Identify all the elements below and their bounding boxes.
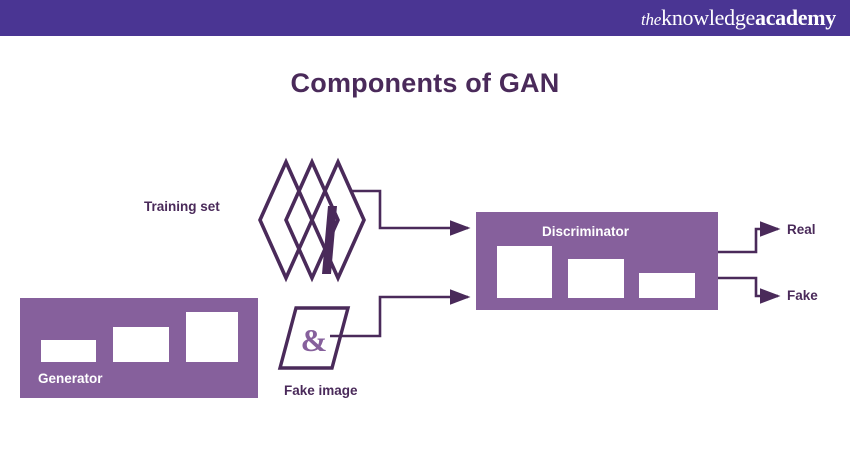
edge-discriminator-to-real: [718, 229, 778, 252]
edge-fake-to-discriminator: [330, 297, 468, 336]
discriminator-inner-rect-3: [639, 273, 695, 298]
generator-inner-rect-2: [113, 327, 169, 362]
label-generator: Generator: [38, 371, 103, 386]
generator-inner-rect-1: [41, 340, 96, 362]
slide-canvas: theknowledgeacademy Components of GAN &: [0, 0, 850, 450]
generator-inner-rect-3: [186, 312, 238, 362]
label-training-set: Training set: [144, 199, 220, 214]
fake-image-shape: &: [280, 308, 348, 368]
label-fake-image: Fake image: [284, 383, 358, 398]
edge-discriminator-to-fake: [718, 278, 778, 296]
ampersand-icon: &: [301, 322, 328, 358]
discriminator-inner-rect-2: [568, 259, 624, 298]
gan-diagram: &: [0, 0, 850, 450]
slash-bar-icon: [322, 206, 337, 274]
edge-training-to-discriminator: [350, 191, 468, 228]
training-set-shape: [260, 162, 364, 278]
discriminator-inner-rect-1: [497, 246, 552, 298]
label-output-fake: Fake: [787, 288, 818, 303]
label-output-real: Real: [787, 222, 816, 237]
label-discriminator: Discriminator: [542, 224, 629, 239]
